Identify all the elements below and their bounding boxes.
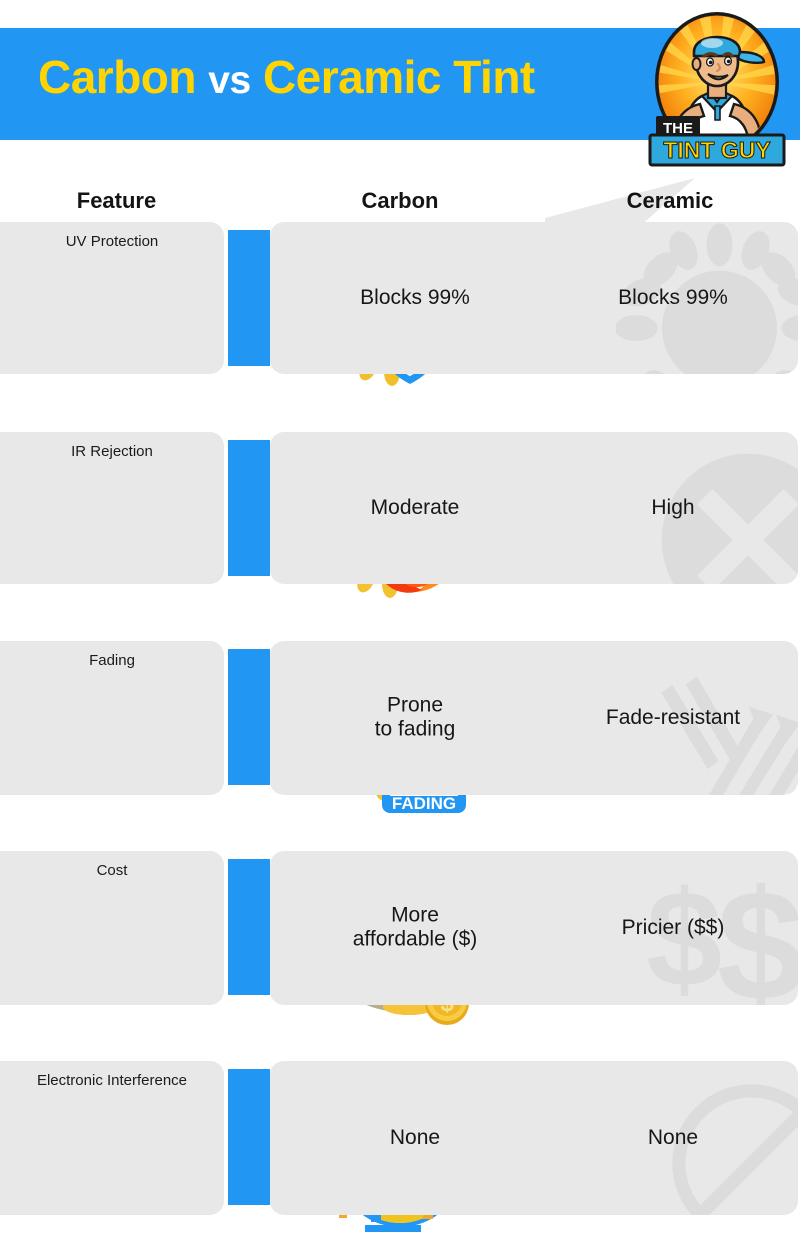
brand-logo[interactable]: THE TINT GUY [638,12,796,170]
table-row: Cost $ [0,851,800,1009]
fading-arrows-watermark [650,671,798,795]
ceramic-value: Blocks 99% [548,286,798,310]
value-card: $ $ More affordable ($) Pricier ($$) [270,851,798,1005]
page-title: Carbon vs Ceramic Tint [38,50,535,104]
row-connector [228,649,270,785]
carbon-value: Prone to fading [290,694,540,743]
carbon-value: Blocks 99% [290,286,540,310]
value-card: None None [270,1061,798,1215]
carbon-value: Moderate [290,496,540,520]
value-card: Prone to fading Fade-resistant [270,641,798,795]
ceramic-value: Pricier ($$) [548,916,798,940]
feature-label: Cost [0,863,224,880]
row-connector [228,230,270,366]
title-vs: vs [208,59,250,102]
ceramic-value: High [548,496,798,520]
svg-text:FADING: FADING [392,794,456,813]
title-part-carbon: Carbon [38,51,196,103]
ceramic-value: None [548,1126,798,1150]
feature-label: Electronic Interference [0,1073,224,1090]
table-row: UV Protection [0,222,800,378]
feature-label: UV Protection [0,234,224,251]
svg-text:TINT GUY: TINT GUY [663,137,770,163]
table-row: Fading [0,641,800,799]
feature-label: IR Rejection [0,444,224,461]
feature-label: Fading [0,653,224,670]
column-header-carbon: Carbon [300,188,500,214]
row-connector [228,440,270,576]
table-row: Electronic Interference [0,1061,800,1219]
ceramic-value: Fade-resistant [548,706,798,730]
carbon-value: More affordable ($) [290,904,540,953]
value-card: Blocks 99% Blocks 99% [270,222,798,374]
value-card: Moderate High [270,432,798,584]
row-connector [228,1069,270,1205]
column-header-feature: Feature [24,188,209,214]
column-header-ceramic: Ceramic [570,188,770,214]
carbon-value: None [290,1126,540,1150]
title-part-ceramic: Ceramic Tint [263,51,535,103]
row-connector [228,859,270,995]
table-row: IR Rejection [0,432,800,588]
